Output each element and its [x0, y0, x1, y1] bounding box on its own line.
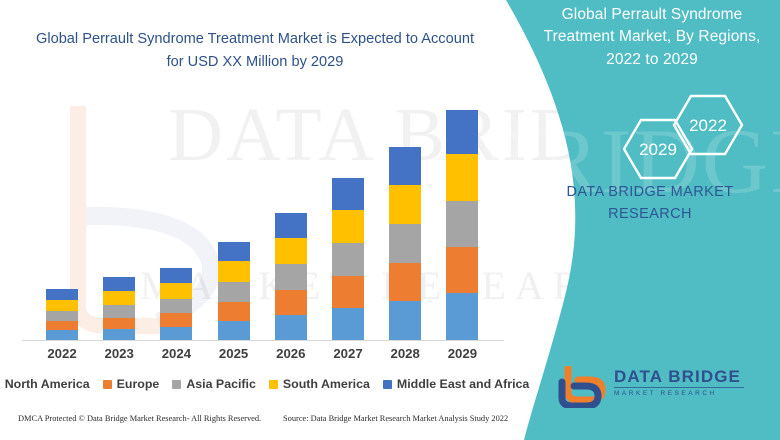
bar-segment-2026-middle-east-and-africa — [275, 213, 307, 238]
bar-segment-2024-europe — [160, 313, 192, 327]
bar-segment-2027-south-america — [332, 210, 364, 243]
panel-brand: DATA BRIDGE MARKET RESEARCH — [525, 182, 775, 226]
bar-segment-2027-middle-east-and-africa — [332, 178, 364, 210]
bar-segment-2029-north-america — [446, 293, 478, 340]
bar-segment-2022-asia-pacific — [46, 311, 78, 321]
right-panel: BRIDGE Global Perrault Syndrome Treatmen… — [480, 0, 780, 440]
infographic-canvas: DATA BRIDGE MARKET RESEARCH Global Perra… — [0, 0, 780, 440]
bar-segment-2029-europe — [446, 247, 478, 293]
legend-item-asia-pacific[interactable]: Asia Pacific — [172, 377, 256, 391]
legend-item-north-america[interactable]: North America — [0, 377, 90, 391]
bar-segment-2022-europe — [46, 321, 78, 330]
bar-2026 — [275, 213, 307, 340]
bar-2028 — [389, 147, 421, 340]
bar-2024 — [160, 268, 192, 340]
bar-segment-2022-south-america — [46, 300, 78, 311]
legend-swatch-icon — [269, 380, 278, 389]
bar-segment-2025-north-america — [218, 321, 250, 340]
bar-segment-2026-north-america — [275, 315, 307, 340]
x-axis-labels: 20222023202420252026202720282029 — [0, 346, 525, 368]
bar-segment-2026-south-america — [275, 238, 307, 264]
legend-label: Europe — [117, 377, 160, 391]
bar-segment-2023-asia-pacific — [103, 305, 135, 318]
bar-segment-2026-asia-pacific — [275, 264, 307, 290]
bar-segment-2028-north-america — [389, 301, 421, 340]
bar-segment-2028-europe — [389, 263, 421, 301]
panel-brand-line1: DATA BRIDGE MARKET — [567, 184, 734, 200]
x-label-2026: 2026 — [263, 346, 319, 361]
x-label-2022: 2022 — [34, 346, 90, 361]
x-label-2024: 2024 — [148, 346, 204, 361]
bar-segment-2024-asia-pacific — [160, 299, 192, 313]
copyright-text: DMCA Protected © Data Bridge Market Rese… — [18, 414, 261, 423]
bar-segment-2023-south-america — [103, 291, 135, 305]
bar-segment-2024-south-america — [160, 283, 192, 299]
bar-segment-2028-south-america — [389, 185, 421, 224]
chart-legend: North AmericaEuropeAsia PacificSouth Ame… — [0, 374, 520, 394]
bar-segment-2024-north-america — [160, 327, 192, 340]
bar-segment-2023-north-america — [103, 329, 135, 340]
bar-2027 — [332, 178, 364, 340]
bar-segment-2024-middle-east-and-africa — [160, 268, 192, 283]
hexagon-2022-label: 2022 — [689, 116, 727, 135]
logo-rule — [614, 387, 744, 388]
legend-swatch-icon — [103, 380, 112, 389]
x-label-2028: 2028 — [377, 346, 433, 361]
data-bridge-logo: DATA BRIDGE MARKET RESEARCH — [556, 366, 756, 410]
bar-segment-2029-asia-pacific — [446, 201, 478, 247]
source-text: Source: Data Bridge Market Research Mark… — [283, 414, 508, 423]
bars-layer — [0, 0, 525, 340]
footer: DMCA Protected © Data Bridge Market Rese… — [0, 414, 525, 432]
bar-segment-2023-europe — [103, 318, 135, 329]
bar-segment-2022-north-america — [46, 330, 78, 340]
bar-segment-2023-middle-east-and-africa — [103, 277, 135, 291]
bar-2025 — [218, 242, 250, 340]
legend-item-europe[interactable]: Europe — [103, 377, 160, 391]
logo-main-text: DATA BRIDGE — [614, 368, 744, 385]
bar-segment-2025-asia-pacific — [218, 282, 250, 302]
bar-segment-2025-south-america — [218, 261, 250, 282]
logo-wordmark: DATA BRIDGE MARKET RESEARCH — [614, 368, 744, 397]
logo-sub-text: MARKET RESEARCH — [614, 391, 744, 397]
bar-segment-2029-south-america — [446, 154, 478, 201]
bar-segment-2022-middle-east-and-africa — [46, 289, 78, 300]
legend-swatch-icon — [383, 380, 392, 389]
bar-segment-2025-middle-east-and-africa — [218, 242, 250, 261]
legend-label: North America — [5, 377, 90, 391]
panel-title: Global Perrault Syndrome Treatment Marke… — [527, 4, 777, 71]
bar-segment-2026-europe — [275, 290, 307, 315]
bar-segment-2027-asia-pacific — [332, 243, 364, 276]
legend-label: South America — [283, 377, 370, 391]
bar-segment-2025-europe — [218, 302, 250, 321]
bar-segment-2029-middle-east-and-africa — [446, 110, 478, 154]
bar-2029 — [446, 110, 478, 340]
panel-brand-line2: RESEARCH — [608, 206, 692, 222]
x-label-2025: 2025 — [206, 346, 262, 361]
bar-segment-2028-middle-east-and-africa — [389, 147, 421, 185]
legend-item-south-america[interactable]: South America — [269, 377, 370, 391]
hexagon-group: 2022 2029 — [543, 88, 773, 188]
bar-2023 — [103, 277, 135, 340]
hexagon-2029-label: 2029 — [639, 140, 677, 159]
chart-panel: DATA BRIDGE MARKET RESEARCH Global Perra… — [0, 0, 525, 440]
x-label-2027: 2027 — [320, 346, 376, 361]
x-label-2023: 2023 — [91, 346, 147, 361]
bar-segment-2027-north-america — [332, 308, 364, 340]
legend-label: Asia Pacific — [186, 377, 256, 391]
x-axis-line — [22, 340, 504, 341]
data-bridge-mark-icon — [556, 366, 610, 408]
bar-segment-2028-asia-pacific — [389, 224, 421, 263]
legend-swatch-icon — [172, 380, 181, 389]
bar-segment-2027-europe — [332, 276, 364, 308]
bar-2022 — [46, 289, 78, 340]
